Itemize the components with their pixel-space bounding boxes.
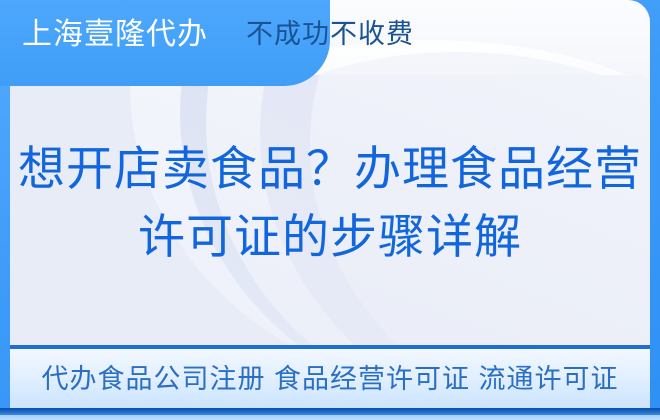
bottom-accent-glow <box>0 415 660 420</box>
headline-line-2: 许可证的步骤详解 <box>10 203 650 271</box>
keyword-list: 代办食品公司注册 食品经营许可证 流通许可证 <box>41 363 618 395</box>
headline: 想开店卖食品？办理食品经营 许可证的步骤详解 <box>10 135 650 271</box>
keyword-bar: 代办食品公司注册 食品经营许可证 流通许可证 <box>10 345 650 408</box>
poster-canvas: 上海壹隆代办 不成功不收费 想开店卖食品？办理食品经营 许可证的步骤详解 代办食… <box>0 0 660 420</box>
slogan-text: 不成功不收费 <box>0 18 660 50</box>
headline-line-1: 想开店卖食品？办理食品经营 <box>10 135 650 203</box>
